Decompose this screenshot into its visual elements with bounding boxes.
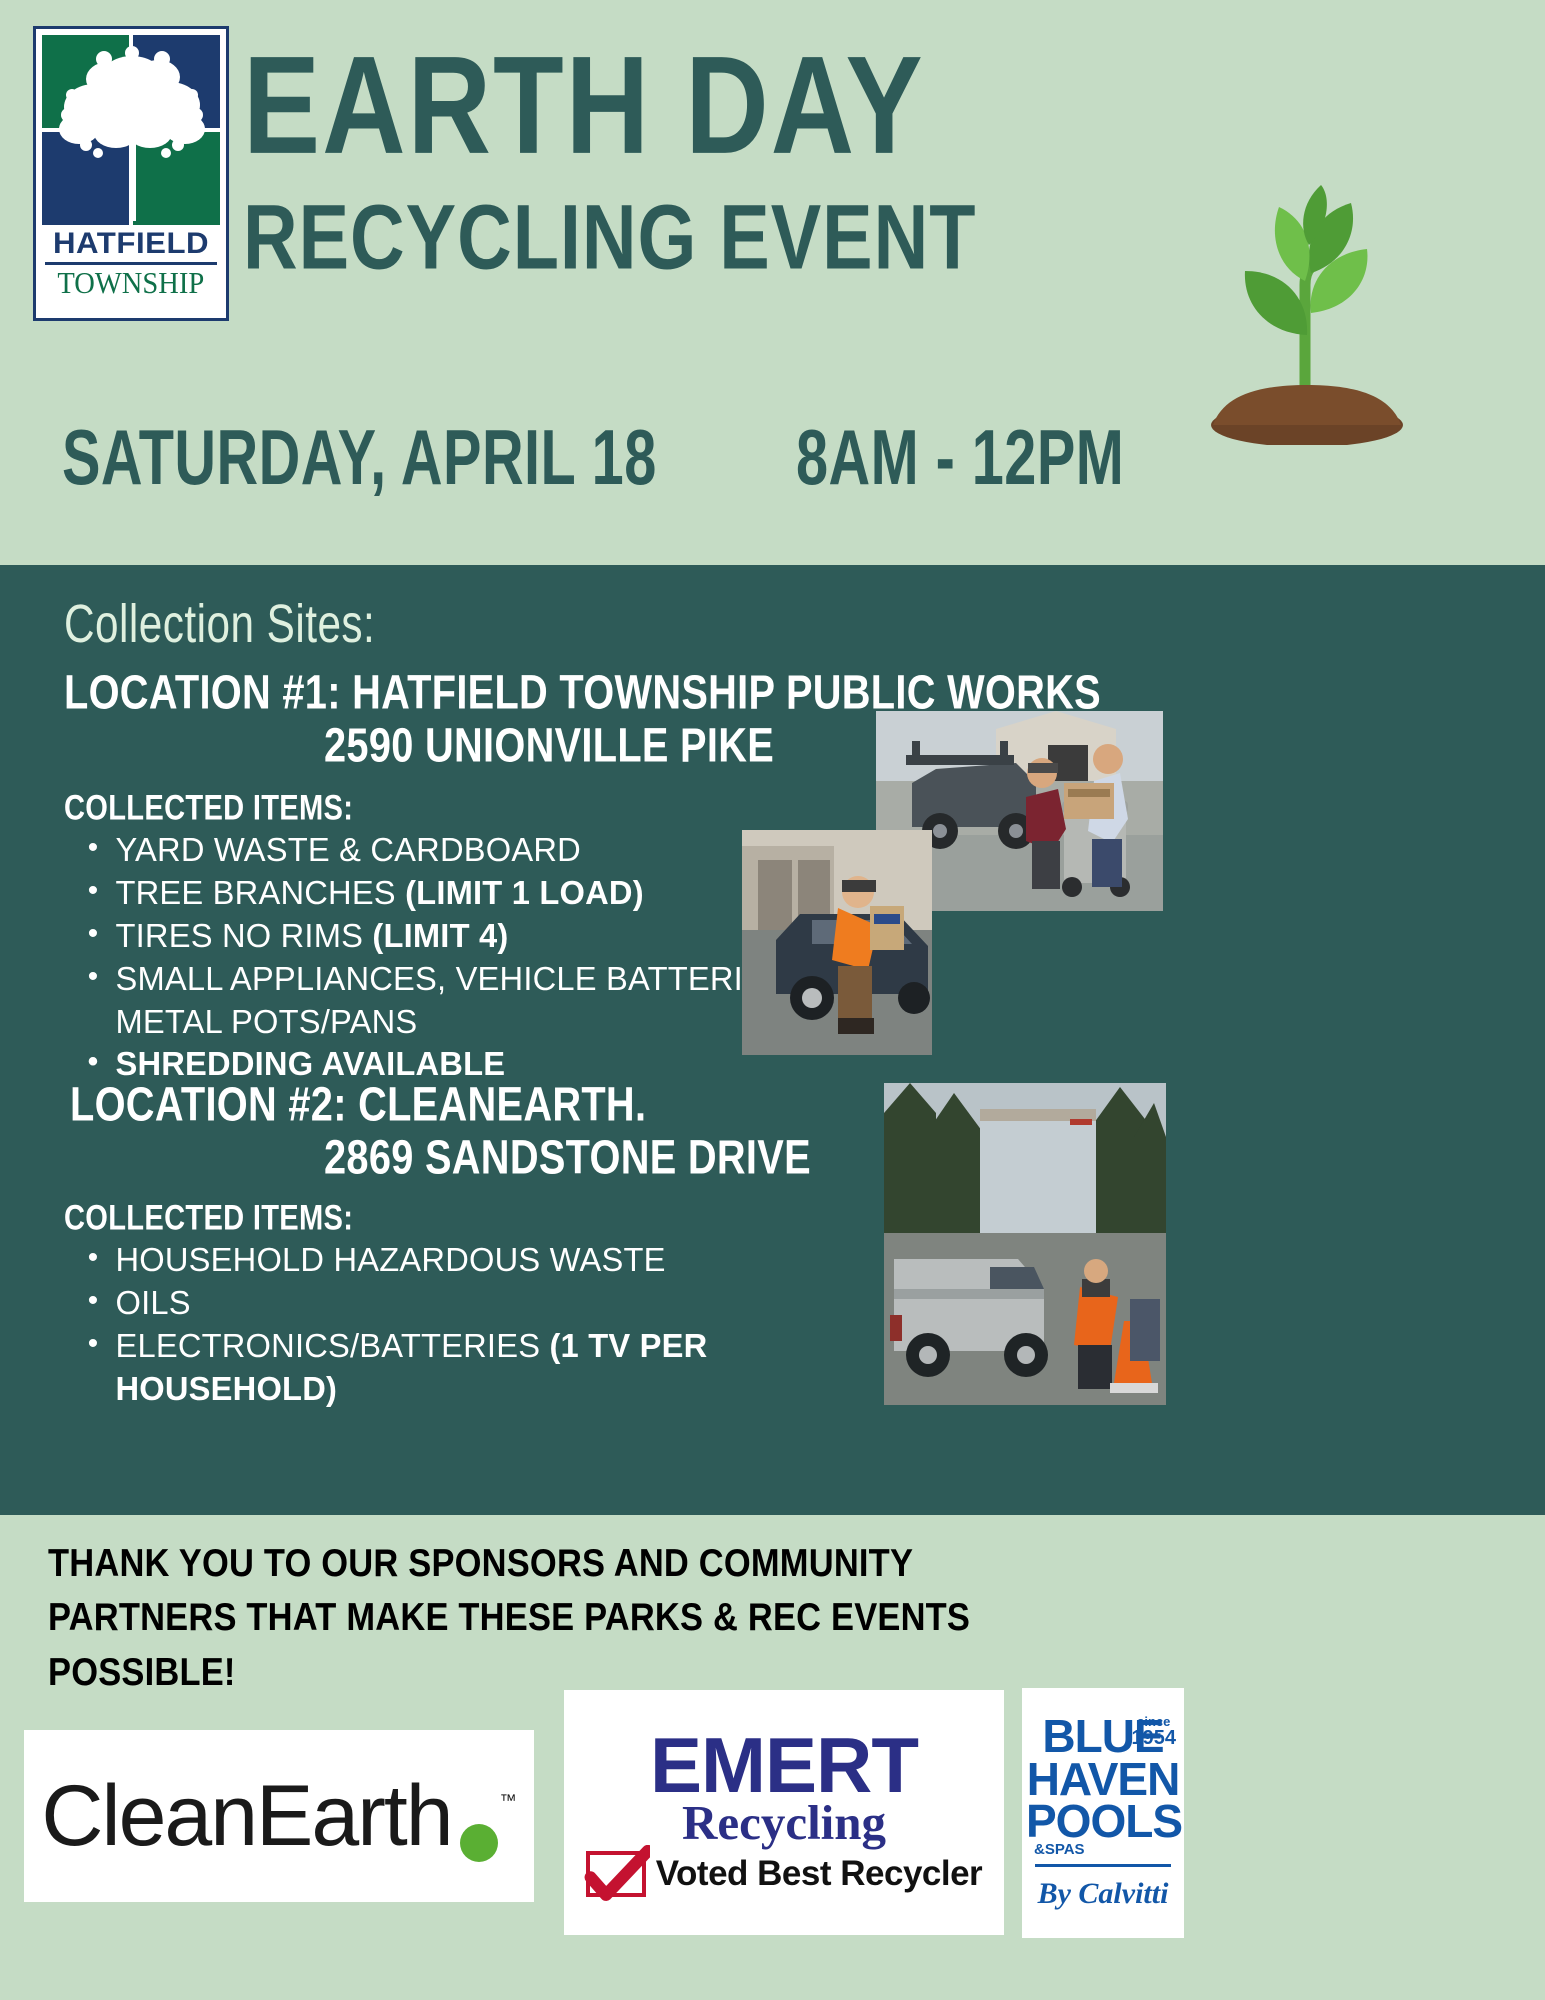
emert-subtitle: Recycling [570,1798,998,1847]
emert-tagline: Voted Best Recycler [656,1854,982,1894]
photo-pickup-dropoff-lot [884,1083,1166,1405]
sponsor-logo-emert-recycling[interactable]: EMERT Recycling Voted Best Recycler [564,1690,1004,1935]
location-2-block: LOCATION #2: CLEANEARTH. 2869 SANDSTONE … [64,1077,894,1411]
location-2-address: 2869 SANDSTONE DRIVE [324,1130,877,1185]
page-subtitle: RECYCLING EVENT [243,193,1213,280]
location-2-heading: LOCATION #2: CLEANEARTH. [70,1077,869,1132]
earth-day-flyer: HATFIELD TOWNSHIP EARTH DAY RECYCLING EV… [0,0,1545,2000]
clean-earth-wordmark: CleanEarth [41,1767,451,1866]
sponsor-logos: CleanEarth ™ EMERT Recycling V [0,1680,1545,1980]
collection-sites-section: Collection Sites: LOCATION #1: HATFIELD … [0,565,1545,1515]
logo-quadrant-top-right [133,35,220,128]
flyer-header: HATFIELD TOWNSHIP EARTH DAY RECYCLING EV… [0,0,1545,565]
title-block: EARTH DAY RECYCLING EVENT [243,42,1243,267]
blue-haven-line2: HAVEN [1026,1758,1180,1801]
blue-haven-since-year: 1954 [1132,1728,1177,1749]
hatfield-township-logo: HATFIELD TOWNSHIP [33,26,229,321]
event-datetime: SATURDAY, APRIL 18 8AM - 12PM [62,432,1148,503]
logo-quadrant-bottom-left [42,132,129,225]
logo-name: HATFIELD [53,229,209,260]
collected-item: ELECTRONICS/BATTERIES (1 TV PER HOUSEHOL… [64,1325,886,1411]
clean-earth-trademark: ™ [500,1791,517,1811]
location-1-heading: LOCATION #1: HATFIELD TOWNSHIP PUBLIC WO… [64,665,869,720]
photo-car-trunk-dropoff [742,830,932,1055]
blue-haven-divider [1035,1864,1171,1867]
event-time: 8AM - 12PM [796,414,1124,503]
emert-title: EMERT [570,1728,998,1802]
logo-quadrant-top-left [42,35,129,128]
sponsor-thank-you-text: THANK YOU TO OUR SPONSORS AND COMMUNITY … [48,1537,994,1699]
collected-item: HOUSEHOLD HAZARDOUS WASTE [64,1239,886,1282]
flyer-footer: THANK YOU TO OUR SPONSORS AND COMMUNITY … [0,1515,1545,2000]
blue-haven-since-badge: since 1954 [1132,1715,1177,1750]
sponsor-logo-clean-earth[interactable]: CleanEarth ™ [24,1730,534,1902]
location-2-items-label: COLLECTED ITEMS: [64,1199,869,1239]
logo-subname: TOWNSHIP [58,267,205,298]
blue-haven-byline: By Calvitti [1026,1877,1180,1911]
location-1-address: 2590 UNIONVILLE PIKE [324,718,877,773]
sponsor-logo-blue-haven-pools[interactable]: since 1954 BLUE HAVEN POOLS &SPAS By Cal… [1022,1688,1184,1938]
blue-haven-line3: POOLS [1026,1800,1180,1843]
blue-haven-since-label: since [1132,1715,1177,1729]
page-title: EARTH DAY [243,42,1223,170]
location-1-items-label: COLLECTED ITEMS: [64,789,869,829]
event-date: SATURDAY, APRIL 18 [62,414,657,503]
collected-item-note: (LIMIT 4) [372,917,508,954]
collected-item: OILS [64,1282,886,1325]
logo-quadrant-bottom-right [133,132,220,225]
logo-tree-emblem [42,35,220,225]
collection-sites-label: Collection Sites: [64,593,375,655]
location-2-items-list: HOUSEHOLD HAZARDOUS WASTEOILSELECTRONICS… [64,1239,894,1411]
collected-item-note: (LIMIT 1 LOAD) [405,874,644,911]
red-checkmark-icon [586,1851,646,1897]
sprout-plant-icon [1193,185,1423,445]
clean-earth-dot-icon [460,1824,498,1862]
